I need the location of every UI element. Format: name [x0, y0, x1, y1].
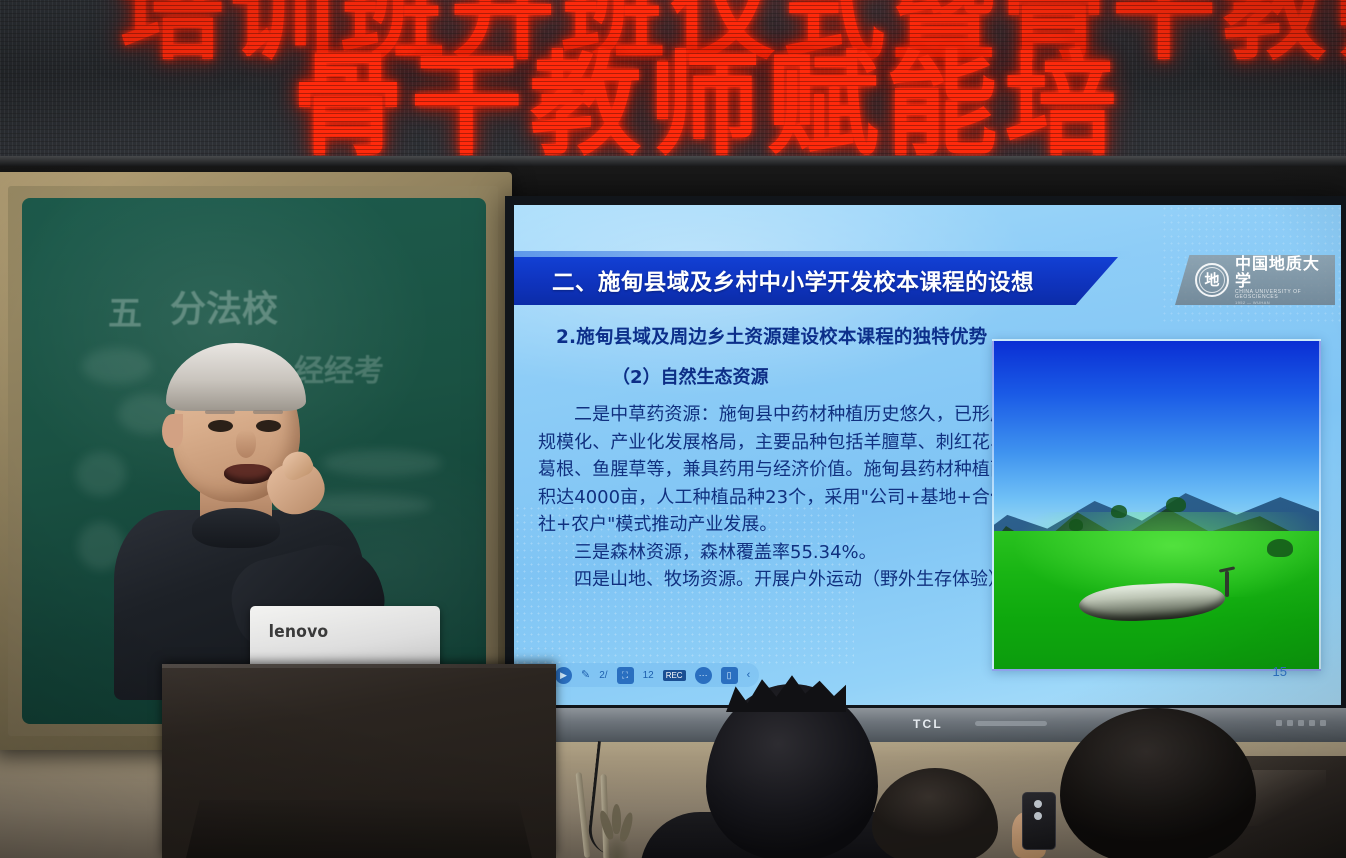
classroom-scene: 培训班开班仪式暨骨干教师 骨干教师赋能培 五 分法校 经经考	[0, 0, 1346, 858]
slide-body-text: 二是中草药资源：施甸县中药材种植历史悠久，已形成规模化、产业化发展格局，主要品种…	[538, 401, 1008, 594]
plant-leaf	[612, 804, 621, 834]
photo-bush-2	[1166, 497, 1186, 512]
presenter-mouth	[224, 464, 272, 484]
potted-plant	[598, 800, 636, 858]
laptop: lenovo	[250, 606, 440, 668]
university-year: 1952 — WUHAN	[1235, 301, 1335, 305]
slide-paragraph-2: 三是森林资源，森林覆盖率55.34%。	[538, 539, 1008, 567]
tv-ports-right	[1276, 720, 1326, 726]
mobile-icon[interactable]: ▯	[721, 667, 738, 684]
laptop-brand-label: lenovo	[269, 622, 329, 642]
presenter-eye-left	[208, 420, 233, 432]
slide-paragraph-1: 二是中草药资源：施甸县中药材种植历史悠久，已形成规模化、产业化发展格局，主要品种…	[538, 401, 1008, 539]
tv-port	[1309, 720, 1315, 726]
presentation-slide: 二、施甸县域及乡村中小学开发校本课程的设想 地 中国地质大学 CHINA UNI…	[514, 205, 1341, 705]
pen-icon[interactable]: ✎	[581, 667, 590, 684]
chair-bar	[576, 772, 591, 858]
podium-top-highlight	[162, 664, 556, 668]
photo-bush-1	[1111, 505, 1127, 518]
tv-ir-sensor	[975, 721, 1047, 726]
photo-shepherd	[1225, 571, 1229, 597]
slide-paragraph-3: 四是山地、牧场资源。开展户外运动（野外生存体验）	[538, 566, 1008, 594]
tv-brand-label: TCL	[913, 717, 943, 731]
collapse-icon[interactable]: ‹	[747, 667, 751, 684]
university-logo-texts: 中国地质大学 CHINA UNIVERSITY OF GEOSCIENCES 1…	[1235, 255, 1335, 306]
university-name-cn: 中国地质大学	[1235, 255, 1335, 290]
slide-subtitle: 2.施甸县域及周边乡土资源建设校本课程的独特优势	[556, 323, 987, 349]
tv-port	[1287, 720, 1293, 726]
timer-label: 12	[643, 670, 654, 681]
presenter-ear	[162, 414, 183, 448]
led-bottom-edge	[0, 156, 1346, 166]
slide-title-band: 二、施甸县域及乡村中小学开发校本课程的设想	[514, 257, 1118, 305]
presenter-brow-right	[253, 410, 283, 414]
slide-page-number: 15	[1273, 664, 1287, 679]
more-icon[interactable]: ⋯	[695, 667, 712, 684]
led-banner-line-2: 骨干教师赋能培	[292, 15, 1123, 166]
presenter-brow-left	[205, 410, 235, 414]
podium-base	[186, 800, 532, 858]
presenter-collar	[192, 508, 280, 548]
led-banner: 培训班开班仪式暨骨干教师 骨干教师赋能培	[0, 0, 1346, 166]
tv-port	[1320, 720, 1326, 726]
photo-bush-4	[1069, 519, 1083, 531]
presenter-hair	[166, 343, 306, 411]
screenshot-icon[interactable]: ⛶	[617, 667, 634, 684]
photo-bush-3	[1267, 539, 1293, 557]
tv-port	[1298, 720, 1304, 726]
slide-section-heading: （2）自然生态资源	[612, 363, 769, 389]
slide-photo-grassland	[992, 339, 1321, 671]
university-seal-icon: 地	[1195, 263, 1229, 297]
university-logo: 地 中国地质大学 CHINA UNIVERSITY OF GEOSCIENCES…	[1175, 255, 1335, 305]
chalk-mark-2: 分法校	[170, 280, 278, 332]
tv-port	[1276, 720, 1282, 726]
seal-glyph: 地	[1204, 273, 1219, 288]
tv-screen: 二、施甸县域及乡村中小学开发校本课程的设想 地 中国地质大学 CHINA UNI…	[514, 205, 1341, 705]
page-indicator: 2/	[599, 670, 607, 681]
play-icon[interactable]: ▶	[555, 667, 572, 684]
record-badge[interactable]: REC	[663, 670, 686, 681]
chalk-mark-1: 五	[108, 286, 142, 335]
slide-title: 二、施甸县域及乡村中小学开发校本课程的设想	[552, 265, 1034, 297]
presenter-eye-right	[256, 420, 281, 432]
presenter-nose	[236, 430, 256, 458]
tv-display: 二、施甸县域及乡村中小学开发校本课程的设想 地 中国地质大学 CHINA UNI…	[505, 196, 1346, 714]
smartphone-camera-icon	[1034, 800, 1042, 808]
